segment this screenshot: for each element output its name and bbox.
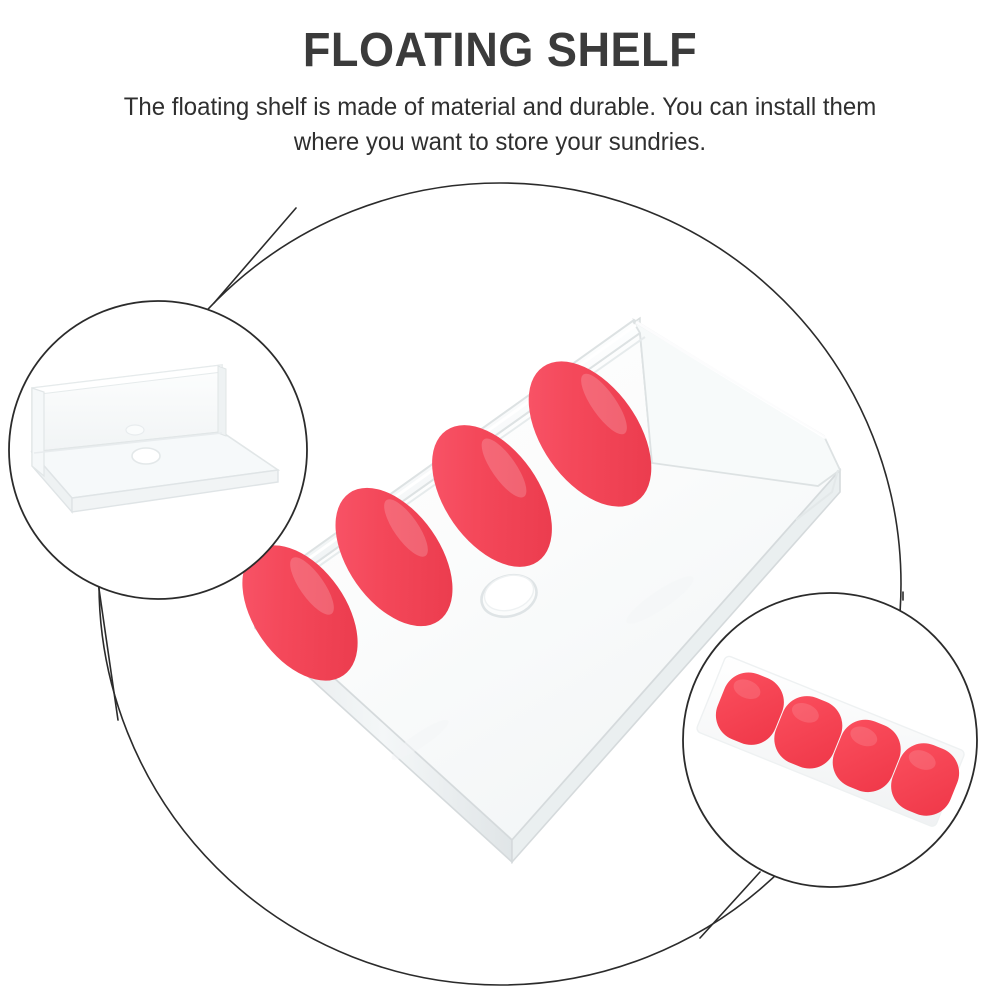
- leader-line-left: [214, 208, 296, 303]
- leader-line-left-lower: [98, 582, 118, 720]
- inset-left-right-riser: [218, 366, 226, 436]
- inset-left-back-hole: [126, 425, 144, 435]
- shelf-riser-panel: [633, 321, 840, 486]
- leader-line-right-lower: [700, 872, 760, 938]
- inset-left-mounting-hole: [132, 448, 160, 464]
- product-infographic-page: FLOATING SHELF The floating shelf is mad…: [0, 0, 1000, 1000]
- inset-left-side-panel: [32, 388, 44, 476]
- product-artwork-stage: [0, 0, 1000, 1000]
- product-illustration: [0, 0, 1000, 1000]
